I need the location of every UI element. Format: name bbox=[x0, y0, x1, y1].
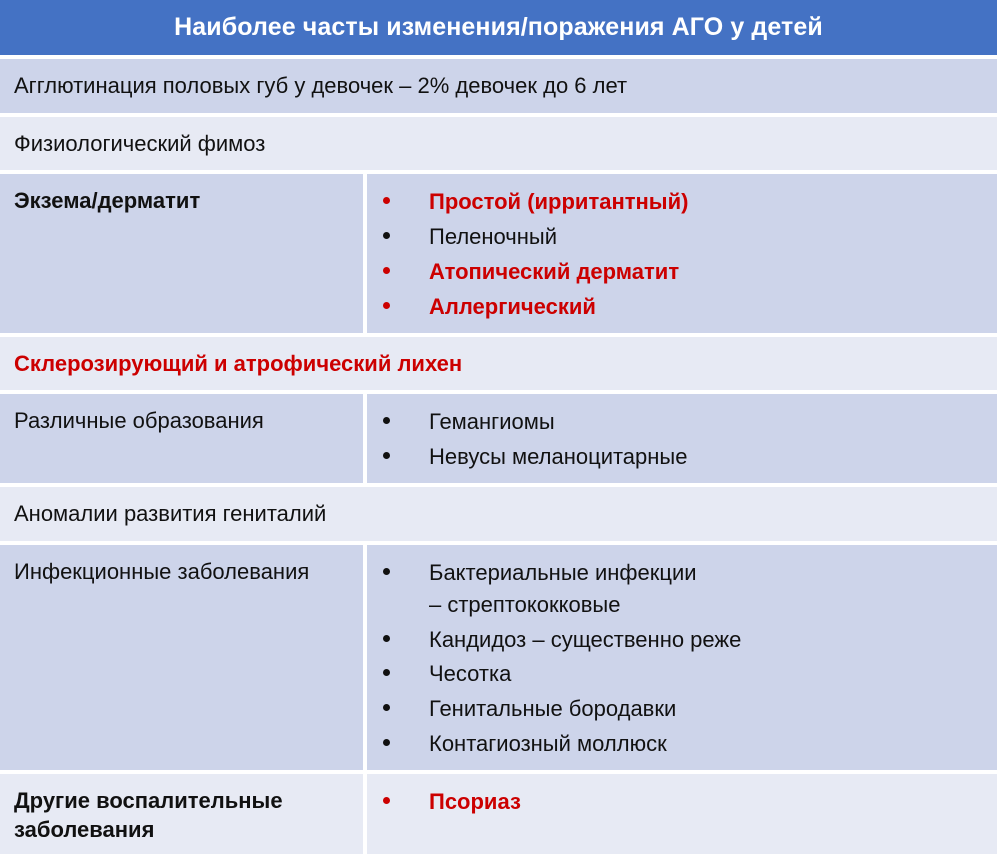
table-row: Другие воспалительные заболевания Псориа… bbox=[0, 770, 997, 854]
row-label-physiological-phimosis: Физиологический фимоз bbox=[0, 117, 997, 171]
list-item: Атопический дерматит bbox=[367, 256, 987, 288]
list-item-text: Контагиозный моллюск bbox=[429, 731, 667, 756]
bullet-list: Бактериальные инфекции – стрептококковые… bbox=[367, 557, 987, 760]
list-item-text: Кандидоз – существенно реже bbox=[429, 627, 741, 652]
row-label-agglutination: Агглютинация половых губ у девочек – 2% … bbox=[0, 59, 997, 113]
list-item: Контагиозный моллюск bbox=[367, 728, 987, 760]
list-item: Генитальные бородавки bbox=[367, 693, 987, 725]
list-item-text: Аллергический bbox=[429, 294, 596, 319]
list-item-text: Бактериальные инфекции bbox=[429, 560, 697, 585]
bullet-dot-icon bbox=[383, 267, 390, 274]
bullet-dot-icon bbox=[383, 739, 390, 746]
bullet-dot-icon bbox=[383, 417, 390, 424]
list-item-text: Генитальные бородавки bbox=[429, 696, 676, 721]
list-item-text: Пеленочный bbox=[429, 224, 557, 249]
bullet-list: Гемангиомы Невусы меланоцитарные bbox=[367, 406, 987, 473]
list-item: Бактериальные инфекции – стрептококковые bbox=[367, 557, 987, 621]
list-item-text: Невусы меланоцитарные bbox=[429, 444, 687, 469]
row-label-genital-anomalies: Аномалии развития гениталий bbox=[0, 487, 997, 541]
list-item: Невусы меланоцитарные bbox=[367, 441, 987, 473]
bullet-dot-icon bbox=[383, 704, 390, 711]
list-item: Псориаз bbox=[367, 786, 987, 818]
bullet-dot-icon bbox=[383, 669, 390, 676]
bullet-dot-icon bbox=[383, 797, 390, 804]
row-bullets-eczema-dermatitis: Простой (ирритантный) Пеленочный Атопиче… bbox=[363, 174, 997, 333]
list-item: Гемангиомы bbox=[367, 406, 987, 438]
list-item-text: Атопический дерматит bbox=[429, 259, 679, 284]
bullet-dot-icon bbox=[383, 232, 390, 239]
bullet-list: Простой (ирритантный) Пеленочный Атопиче… bbox=[367, 186, 987, 323]
list-item: Аллергический bbox=[367, 291, 987, 323]
bullet-dot-icon bbox=[383, 452, 390, 459]
list-item: Чесотка bbox=[367, 658, 987, 690]
list-item-continuation: – стрептококковые bbox=[429, 589, 987, 621]
table-row: Инфекционные заболевания Бактериальные и… bbox=[0, 541, 997, 770]
list-item-text: Простой (ирритантный) bbox=[429, 189, 688, 214]
table-row: Агглютинация половых губ у девочек – 2% … bbox=[0, 55, 997, 113]
table-row: Аномалии развития гениталий bbox=[0, 483, 997, 541]
list-item-text: Гемангиомы bbox=[429, 409, 555, 434]
list-item: Простой (ирритантный) bbox=[367, 186, 987, 218]
row-label-other-inflammatory: Другие воспалительные заболевания bbox=[0, 774, 363, 854]
list-item: Кандидоз – существенно реже bbox=[367, 624, 987, 656]
row-label-lichen-sclerosus: Склерозирующий и атрофический лихен bbox=[0, 337, 997, 391]
row-label-infectious-diseases: Инфекционные заболевания bbox=[0, 545, 363, 770]
bullet-dot-icon bbox=[383, 302, 390, 309]
list-item-text: Чесотка bbox=[429, 661, 511, 686]
table-row: Физиологический фимоз bbox=[0, 113, 997, 171]
bullet-dot-icon bbox=[383, 568, 390, 575]
table-title-text: Наиболее часты изменения/поражения АГО у… bbox=[174, 13, 823, 42]
list-item-text: Псориаз bbox=[429, 789, 521, 814]
table-row: Экзема/дерматит Простой (ирритантный) Пе… bbox=[0, 170, 997, 333]
slide-root: Наиболее часты изменения/поражения АГО у… bbox=[0, 0, 997, 858]
row-bullets-various-growths: Гемангиомы Невусы меланоцитарные bbox=[363, 394, 997, 483]
list-item: Пеленочный bbox=[367, 221, 987, 253]
table-body: Агглютинация половых губ у девочек – 2% … bbox=[0, 55, 997, 854]
table-row: Склерозирующий и атрофический лихен bbox=[0, 333, 997, 391]
table-row: Различные образования Гемангиомы Невусы … bbox=[0, 390, 997, 483]
row-label-various-growths: Различные образования bbox=[0, 394, 363, 483]
row-bullets-other-inflammatory: Псориаз bbox=[363, 774, 997, 854]
bullet-dot-icon bbox=[383, 635, 390, 642]
row-label-eczema-dermatitis: Экзема/дерматит bbox=[0, 174, 363, 333]
bullet-dot-icon bbox=[383, 197, 390, 204]
bullet-list: Псориаз bbox=[367, 786, 987, 818]
row-bullets-infectious-diseases: Бактериальные инфекции – стрептококковые… bbox=[363, 545, 997, 770]
table-title-header: Наиболее часты изменения/поражения АГО у… bbox=[0, 0, 997, 55]
